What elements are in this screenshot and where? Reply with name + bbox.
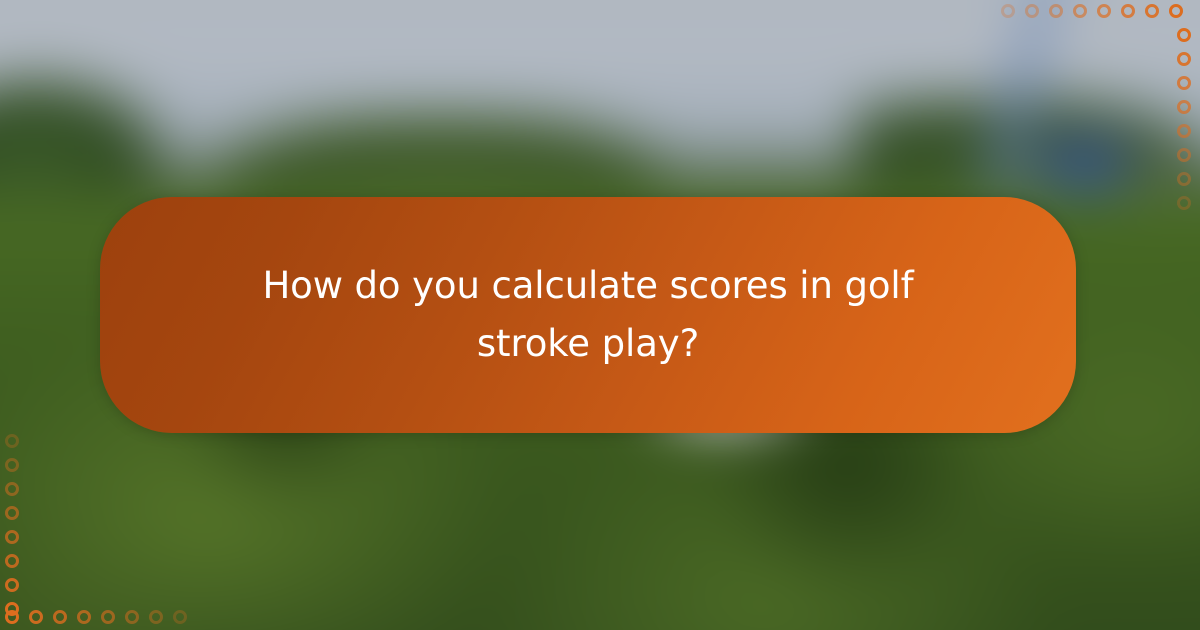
decorative-dot (5, 530, 19, 544)
decorative-dot (1049, 4, 1063, 18)
decorative-dot (1025, 4, 1039, 18)
decorative-dot (1177, 148, 1191, 162)
decorative-dot (1177, 172, 1191, 186)
decorative-dot (53, 610, 67, 624)
decorative-dot (5, 482, 19, 496)
decorative-dot (5, 434, 19, 448)
decorative-dot (1145, 4, 1159, 18)
decorative-dot (173, 610, 187, 624)
decorative-dot (5, 506, 19, 520)
decorative-dot (1177, 196, 1191, 210)
decorative-dot (1121, 4, 1135, 18)
decorative-dot (5, 578, 19, 592)
question-card[interactable]: How do you calculate scores in golf stro… (100, 197, 1076, 433)
decorative-dot (1177, 100, 1191, 114)
page-root: How do you calculate scores in golf stro… (0, 0, 1200, 630)
question-text: How do you calculate scores in golf stro… (194, 257, 982, 373)
decorative-dot (1177, 52, 1191, 66)
decorative-dot (1177, 28, 1191, 42)
decorative-dot (5, 458, 19, 472)
decorative-dot (1169, 4, 1183, 18)
decorative-dot (77, 610, 91, 624)
decorative-dot (1073, 4, 1087, 18)
decorative-dot (5, 554, 19, 568)
decorative-dot (1001, 4, 1015, 18)
decorative-dot (29, 610, 43, 624)
decorative-dot (1097, 4, 1111, 18)
decorative-dot (5, 610, 19, 624)
decorative-dot (149, 610, 163, 624)
decorative-dot (1177, 124, 1191, 138)
decorative-dot (1177, 76, 1191, 90)
decorative-dot (125, 610, 139, 624)
decorative-dot (101, 610, 115, 624)
